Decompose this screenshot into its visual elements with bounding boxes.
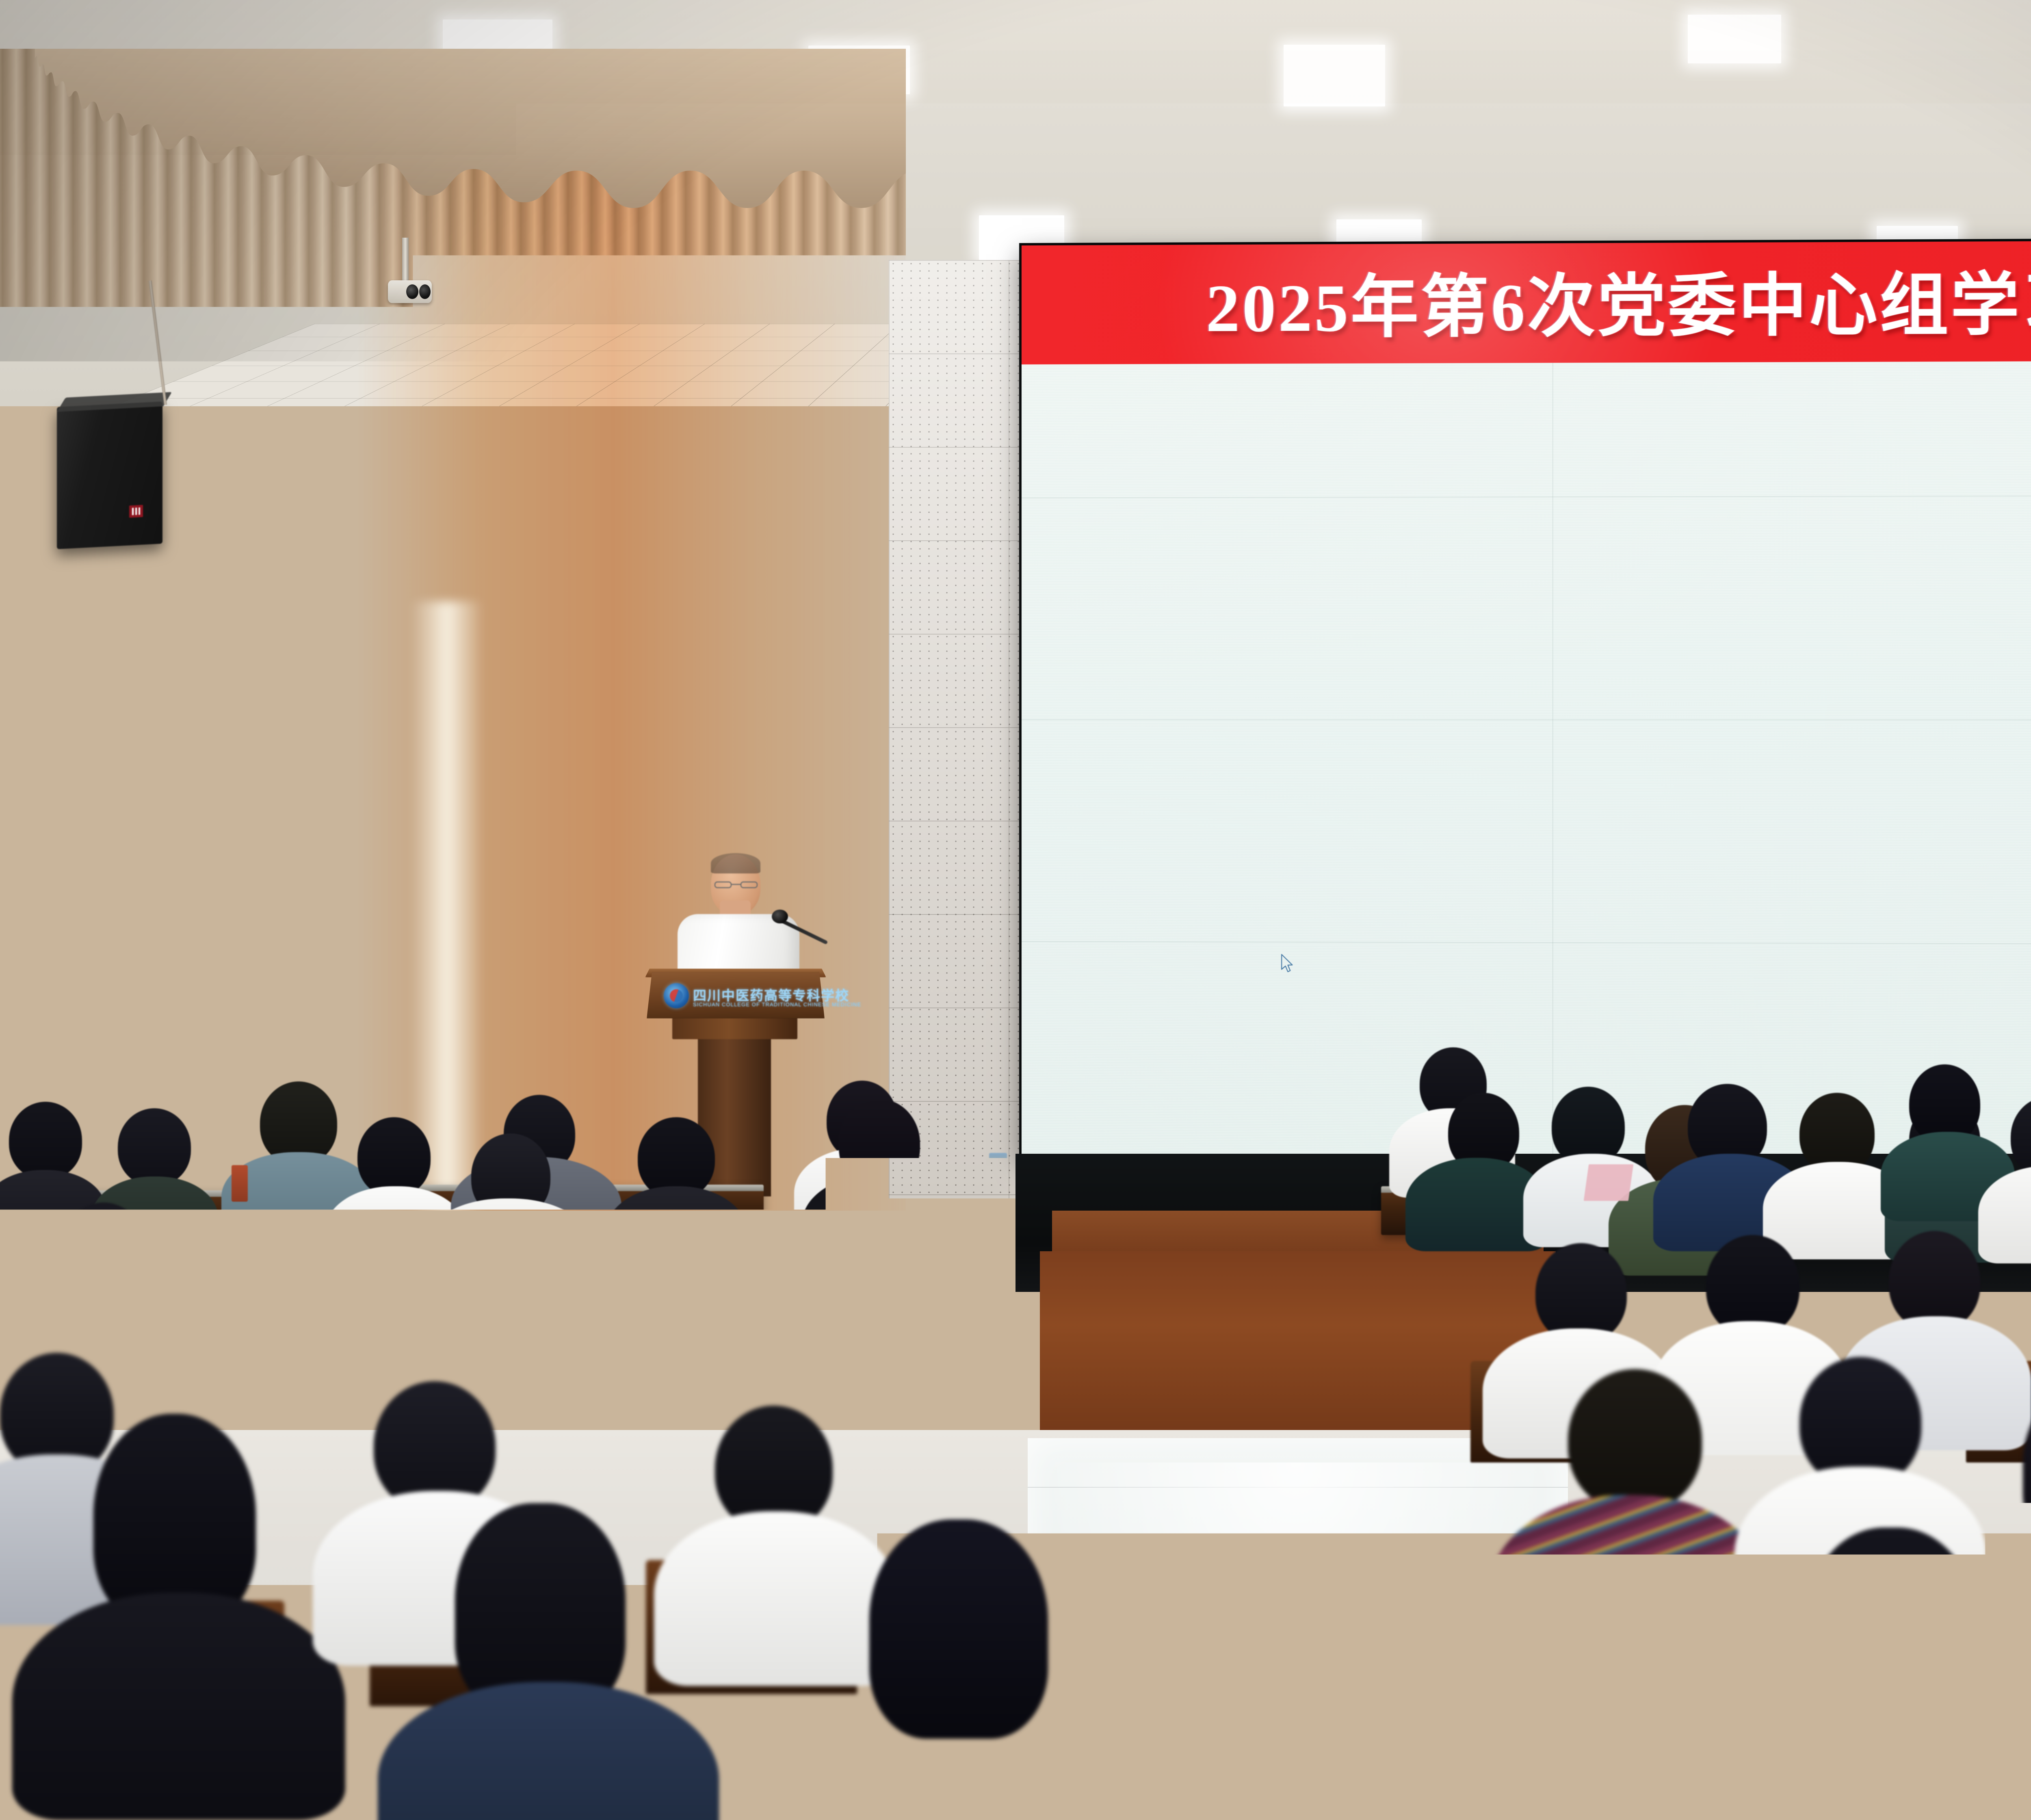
ceiling-panel-light bbox=[1688, 15, 1781, 63]
ceiling-panel-light bbox=[1284, 45, 1385, 106]
audience-head bbox=[869, 1519, 1048, 1739]
led-video-wall[interactable]: 2025年第6次党委中心组学习（扩大）会 bbox=[1022, 239, 2031, 1164]
glasses-icon bbox=[714, 881, 758, 889]
audience-head bbox=[357, 1117, 431, 1196]
speaker-mount-pole bbox=[62, 540, 88, 760]
meeting-title-text: 2025年第6次党委中心组学习（扩大）会 bbox=[1206, 248, 2031, 351]
audience-head bbox=[9, 1102, 82, 1179]
speaker-brand-badge bbox=[129, 505, 143, 518]
microphone-icon bbox=[772, 910, 788, 923]
audience-shoulders bbox=[1487, 1495, 1771, 1706]
presenter-hair bbox=[711, 853, 760, 873]
audience-head bbox=[118, 1108, 191, 1185]
mouse-pointer-icon bbox=[1280, 954, 1295, 974]
wall-speaker bbox=[57, 401, 162, 549]
conference-hall-photo: 2025年第6次党委中心组学习（扩大）会 bbox=[0, 0, 2031, 1820]
led-banner-bar: 2025年第6次党委中心组学习（扩大）会 bbox=[1022, 239, 2031, 364]
podium-school-name-en: SICHUAN COLLEGE OF TRADITIONAL CHINESE M… bbox=[693, 1001, 815, 1007]
audience-head bbox=[2011, 1097, 2031, 1177]
audience-shoulders bbox=[12, 1592, 345, 1820]
audience-head bbox=[1568, 1369, 1702, 1511]
audience-row-near-right bbox=[1442, 1267, 2031, 1820]
audience-head bbox=[2023, 1381, 2031, 1552]
school-emblem-icon bbox=[664, 983, 689, 1008]
camera-mount-rod bbox=[402, 238, 409, 282]
camera-lens-icon bbox=[419, 284, 431, 299]
scalloped-valance bbox=[0, 49, 906, 276]
camera-lens-icon bbox=[406, 284, 418, 299]
audience-row-near-left bbox=[0, 1292, 1097, 1820]
audience-shoulders bbox=[654, 1511, 898, 1686]
audience-head bbox=[1804, 1527, 1978, 1747]
